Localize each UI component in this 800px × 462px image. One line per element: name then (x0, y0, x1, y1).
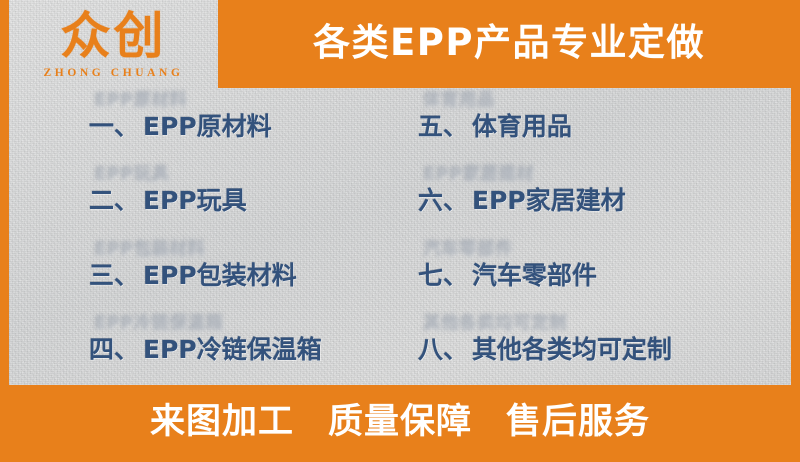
list-item-label: 其他各类均可定制 (472, 330, 672, 366)
brand-logo-chinese: 众创 (61, 11, 167, 61)
list-item: EPP原材料 一、 EPP原材料 (9, 107, 400, 143)
list-item-label: EPP玩具 (143, 181, 247, 217)
list-item-label: EPP包装材料 (143, 256, 297, 292)
brand-logo: 众创 ZHONG CHUANG (9, 0, 218, 88)
list-item: 其他各类均可定制 八、 其他各类均可定制 (400, 330, 791, 366)
list-item: EPP玩具 二、 EPP玩具 (9, 181, 400, 217)
poster-header: 众创 ZHONG CHUANG 各类EPP产品专业定做 (0, 0, 800, 88)
poster-footer: 来图加工 质量保障 售后服务 (0, 385, 800, 462)
list-item-index: 二、 (89, 181, 139, 217)
list-item-index: 七、 (418, 256, 468, 292)
footer-item: 来图加工 (150, 405, 294, 443)
footer-item: 售后服务 (506, 405, 650, 443)
list-item: EPP家居建材 六、 EPP家居建材 (400, 181, 791, 217)
list-item: 汽车零部件 七、 汽车零部件 (400, 256, 791, 292)
list-item-index: 一、 (89, 107, 139, 143)
header-banner: 各类EPP产品专业定做 (218, 0, 800, 88)
footer-item: 质量保障 (328, 405, 472, 443)
list-item-index: 五、 (418, 107, 468, 143)
list-item-label: 汽车零部件 (472, 256, 597, 292)
list-item-label: 体育用品 (472, 107, 572, 143)
list-item-index: 四、 (89, 330, 139, 366)
list-item-label: EPP原材料 (143, 107, 272, 143)
product-category-list: EPP原材料 一、 EPP原材料 体育用品 五、 体育用品 EPP玩具 二、 E… (9, 88, 791, 385)
list-item: EPP冷链保温箱 四、 EPP冷链保温箱 (9, 330, 400, 366)
list-item-label: EPP家居建材 (472, 181, 626, 217)
list-item-label: EPP冷链保温箱 (143, 330, 322, 366)
promo-poster: 众创 ZHONG CHUANG 各类EPP产品专业定做 EPP原材料 一、 EP… (0, 0, 800, 462)
list-item: 体育用品 五、 体育用品 (400, 107, 791, 143)
poster-title: 各类EPP产品专业定做 (313, 24, 705, 64)
list-item-index: 八、 (418, 330, 468, 366)
list-item-index: 六、 (418, 181, 468, 217)
list-item: EPP包装材料 三、 EPP包装材料 (9, 256, 400, 292)
brand-logo-pinyin: ZHONG CHUANG (44, 67, 184, 79)
list-item-index: 三、 (89, 256, 139, 292)
